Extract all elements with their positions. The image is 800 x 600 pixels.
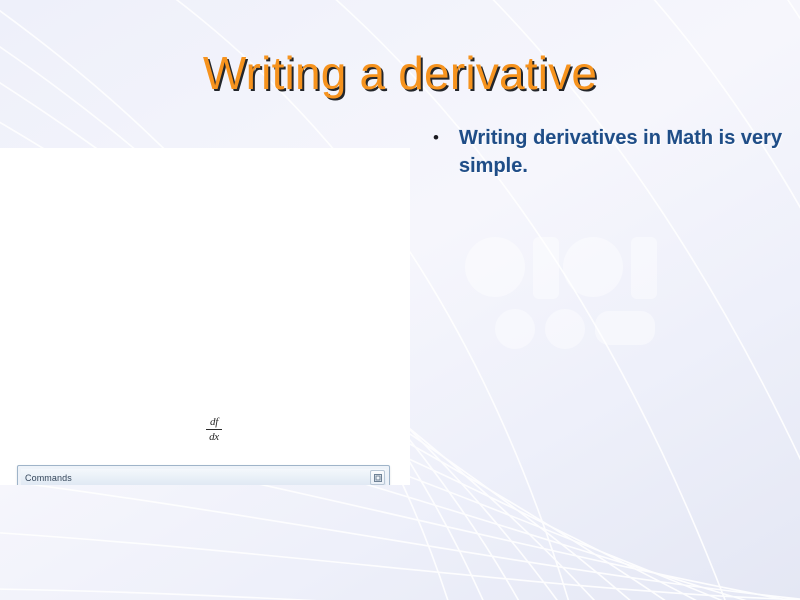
commands-panel-title: Commands: [21, 473, 72, 483]
commands-panel: Commands {df} over {dx}: [17, 465, 390, 485]
commands-panel-titlebar[interactable]: Commands: [21, 469, 386, 485]
restore-window-icon[interactable]: [370, 470, 385, 485]
slide: Writing a derivative • Writing derivativ…: [0, 0, 800, 600]
body-text-block: • Writing derivatives in Math is very si…: [428, 124, 784, 180]
bullet-text: Writing derivatives in Math is very simp…: [459, 124, 784, 180]
formula-fraction-bar: [206, 429, 222, 430]
page-title: Writing a derivative: [0, 46, 800, 100]
formula-numerator: df: [197, 416, 231, 428]
bullet-marker-icon: •: [428, 124, 459, 152]
formula-df-dx: df dx: [197, 416, 231, 443]
list-item: • Writing derivatives in Math is very si…: [428, 124, 784, 180]
background-watermark: [455, 225, 715, 355]
formula-denominator: dx: [197, 431, 231, 443]
embedded-screenshot: df dx Commands {df} over {dx}: [0, 148, 410, 485]
